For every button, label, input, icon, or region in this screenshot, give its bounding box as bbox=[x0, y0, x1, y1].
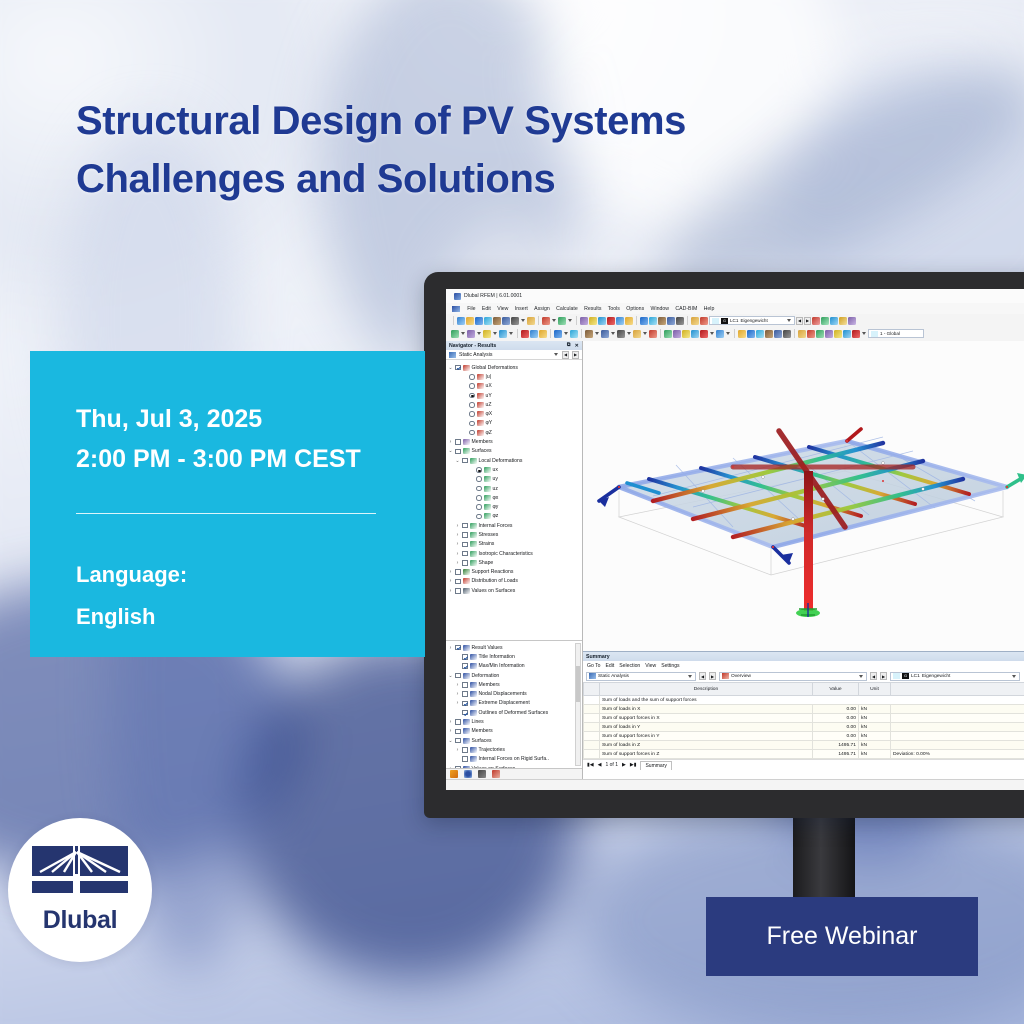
page-indicator: 1 of 1 bbox=[605, 762, 618, 768]
menu-item-insert[interactable]: Insert bbox=[512, 306, 531, 312]
radio-button[interactable] bbox=[469, 421, 475, 427]
page-title: Structural Design of PV Systems Challeng… bbox=[76, 92, 896, 208]
toolbar-icon[interactable] bbox=[812, 317, 820, 325]
tree-item-icon bbox=[470, 682, 477, 688]
toolbar-icon[interactable] bbox=[664, 330, 672, 338]
dropdown-caret-icon[interactable] bbox=[726, 332, 730, 335]
checkbox[interactable] bbox=[455, 729, 461, 735]
checkbox[interactable] bbox=[462, 532, 468, 538]
float-icon[interactable]: ⧉ bbox=[567, 342, 571, 349]
toolbar-icon[interactable] bbox=[848, 317, 856, 325]
summary-menu-view[interactable]: View bbox=[645, 663, 656, 669]
support-symbol bbox=[796, 603, 820, 617]
checkbox-checked[interactable] bbox=[455, 365, 461, 371]
cell-note bbox=[891, 732, 1024, 741]
tree-item[interactable]: φX bbox=[448, 409, 582, 418]
chevron-right-icon[interactable]: › bbox=[448, 645, 453, 651]
radio-button[interactable] bbox=[476, 476, 482, 482]
toolbar-icon[interactable] bbox=[633, 330, 641, 338]
summary-menu-settings[interactable]: Settings bbox=[661, 663, 679, 669]
chevron-right-icon[interactable]: › bbox=[448, 766, 453, 769]
loadcase-next-button[interactable]: ▶ bbox=[804, 317, 811, 325]
tree-item-icon bbox=[470, 532, 477, 538]
chevron-right-icon[interactable]: › bbox=[448, 569, 453, 575]
checkbox[interactable] bbox=[462, 542, 468, 548]
radio-button[interactable] bbox=[469, 430, 475, 436]
navigator-tab-results-icon[interactable] bbox=[450, 770, 458, 778]
dropdown-caret-icon[interactable] bbox=[477, 332, 481, 335]
chevron-down-icon[interactable] bbox=[1012, 675, 1016, 678]
dropdown-caret-icon[interactable] bbox=[568, 319, 572, 322]
toolbar-icon[interactable] bbox=[700, 330, 708, 338]
toolbar-icon[interactable] bbox=[530, 330, 538, 338]
toolbar-icon[interactable] bbox=[511, 317, 519, 325]
chevron-right-icon[interactable]: › bbox=[455, 560, 460, 566]
tree-item[interactable]: ⌄Global Deformations bbox=[448, 363, 582, 372]
first-page-button[interactable]: ▮◀ bbox=[587, 762, 594, 768]
dropdown-caret-icon[interactable] bbox=[493, 332, 497, 335]
tree-item-label: Values on Surfaces bbox=[472, 588, 516, 594]
view-prev-button[interactable]: ◀ bbox=[870, 672, 877, 680]
tree-item-icon bbox=[470, 654, 477, 660]
toolbar-icon[interactable] bbox=[830, 317, 838, 325]
toolbar-icon[interactable] bbox=[839, 317, 847, 325]
toolbar-icon[interactable] bbox=[451, 330, 459, 338]
tree-item-icon bbox=[484, 504, 491, 510]
checkbox[interactable] bbox=[462, 682, 468, 688]
chevron-down-icon[interactable] bbox=[554, 353, 558, 356]
toolbar-icon[interactable] bbox=[585, 330, 593, 338]
tree-item[interactable]: ›Result Values bbox=[448, 643, 582, 652]
toolbar-icon[interactable] bbox=[843, 330, 851, 338]
tree-item[interactable]: Internal Forces on Rigid Surfa.. bbox=[448, 755, 582, 764]
event-date: Thu, Jul 3, 2025 bbox=[76, 399, 425, 439]
tree-item-label: φX bbox=[486, 411, 493, 417]
menu-item-assign[interactable]: Assign bbox=[531, 306, 553, 312]
analysis-icon bbox=[589, 673, 596, 679]
chevron-right-icon[interactable]: › bbox=[455, 551, 460, 557]
toolbar-icon[interactable] bbox=[640, 317, 648, 325]
event-time: 2:00 PM - 3:00 PM CEST bbox=[76, 439, 425, 479]
toolbar-icon[interactable] bbox=[554, 330, 562, 338]
tree-item-label: Max/Min Information bbox=[479, 663, 525, 669]
checkbox-checked[interactable] bbox=[462, 701, 468, 707]
checkbox[interactable] bbox=[462, 551, 468, 557]
tree-item[interactable]: ›Values on Surfaces bbox=[448, 764, 582, 768]
tree-item-icon bbox=[463, 365, 470, 371]
analysis-prev-button[interactable]: ◀ bbox=[699, 672, 706, 680]
checkbox[interactable] bbox=[455, 579, 461, 585]
dropdown-caret-icon[interactable] bbox=[595, 332, 599, 335]
chevron-right-icon[interactable]: › bbox=[455, 691, 460, 697]
tree-item-label: Surfaces bbox=[472, 448, 492, 454]
chevron-down-icon[interactable] bbox=[859, 675, 863, 678]
tree-item-label: |u| bbox=[486, 374, 491, 380]
tree-item[interactable]: ›Members bbox=[448, 437, 582, 446]
toolbar-icon[interactable] bbox=[616, 317, 624, 325]
toolbar-icon[interactable] bbox=[691, 317, 699, 325]
radio-button[interactable] bbox=[469, 374, 475, 380]
dropdown-caret-icon[interactable] bbox=[521, 319, 525, 322]
prev-button[interactable]: ◀ bbox=[562, 351, 569, 359]
tree-item[interactable]: ›Nodal Displacements bbox=[448, 689, 582, 698]
checkbox-checked[interactable] bbox=[462, 654, 468, 660]
menu-item-edit[interactable]: Edit bbox=[479, 306, 494, 312]
dropdown-caret-icon[interactable] bbox=[710, 332, 714, 335]
table-group-row: Sum of loads and the sum of support forc… bbox=[584, 696, 1024, 705]
toolbar-icon[interactable] bbox=[539, 330, 547, 338]
chevron-down-icon[interactable]: ⌄ bbox=[448, 673, 453, 679]
toolbar-icon[interactable] bbox=[601, 330, 609, 338]
chevron-right-icon[interactable]: › bbox=[455, 747, 460, 753]
app-logo-icon bbox=[454, 293, 461, 300]
toolbar-icon[interactable] bbox=[457, 317, 465, 325]
toolbar-loadcase-combo[interactable]: GLC1Eigengewicht bbox=[709, 316, 795, 325]
radio-selected[interactable] bbox=[476, 467, 482, 473]
tree-item[interactable]: ›Extreme Displacement bbox=[448, 699, 582, 708]
tree-item[interactable]: ›Members bbox=[448, 680, 582, 689]
tree-item[interactable]: φx bbox=[448, 493, 582, 502]
language-label: Language: bbox=[76, 554, 425, 596]
dropdown-caret-icon[interactable] bbox=[509, 332, 513, 335]
checkbox[interactable] bbox=[455, 673, 461, 679]
table-row[interactable]: Sum of support forces in X0.00kN bbox=[584, 714, 1024, 723]
toolbar-icon[interactable] bbox=[475, 317, 483, 325]
tree-item[interactable]: ›Members bbox=[448, 727, 582, 736]
toolbar-icon[interactable] bbox=[682, 330, 690, 338]
summary-menu-edit[interactable]: Edit bbox=[606, 663, 615, 669]
toolbar-icon[interactable] bbox=[807, 330, 815, 338]
toolbar-icon[interactable] bbox=[691, 330, 699, 338]
tree-item-icon bbox=[463, 439, 470, 445]
tree-item[interactable]: uZ bbox=[448, 400, 582, 409]
tree-scrollbar[interactable] bbox=[575, 643, 581, 766]
tree-item[interactable]: uY bbox=[448, 391, 582, 400]
checkbox[interactable] bbox=[455, 569, 461, 575]
chevron-right-icon[interactable]: › bbox=[455, 682, 460, 688]
next-button[interactable]: ▶ bbox=[572, 351, 579, 359]
summary-table: Description Value Unit Sum of loads and … bbox=[583, 682, 1024, 759]
free-webinar-label: Free Webinar bbox=[767, 922, 918, 951]
tree-item[interactable]: ›Lines bbox=[448, 717, 582, 726]
radio-button[interactable] bbox=[476, 504, 482, 510]
checkbox[interactable] bbox=[455, 719, 461, 725]
cell-note bbox=[891, 741, 1024, 750]
col-description: Description bbox=[600, 683, 813, 696]
radio-button[interactable] bbox=[476, 495, 482, 501]
cell-description: Sum of loads in Y bbox=[600, 723, 813, 732]
tree-item[interactable]: ›Distribution of Loads bbox=[448, 577, 582, 586]
display-tree[interactable]: ›Result ValuesTitle InformationMax/Min I… bbox=[446, 640, 582, 768]
chevron-right-icon[interactable]: › bbox=[455, 532, 460, 538]
tree-item-label: φz bbox=[493, 513, 499, 519]
cell-value: 0.00 bbox=[813, 714, 859, 723]
cell-unit: kN bbox=[859, 705, 891, 714]
navigator-tabs[interactable] bbox=[446, 768, 582, 779]
checkbox[interactable] bbox=[462, 560, 468, 566]
loadcase-prev-button[interactable]: ◀ bbox=[796, 317, 803, 325]
toolbar-icon[interactable] bbox=[493, 317, 501, 325]
toolbar-icon[interactable] bbox=[852, 330, 860, 338]
tree-item-icon bbox=[463, 719, 470, 725]
toolbar-icon[interactable] bbox=[774, 330, 782, 338]
toolbar-secondary[interactable]: 1 - Global bbox=[446, 327, 1024, 340]
tree-item-icon bbox=[463, 569, 470, 575]
table-row[interactable]: Sum of support forces in Y0.00kN bbox=[584, 732, 1024, 741]
toolbar-icon[interactable] bbox=[821, 317, 829, 325]
tree-item-label: Trajectories bbox=[479, 747, 505, 753]
summary-view-combo[interactable]: Overview bbox=[719, 672, 867, 681]
toolbar-icon[interactable] bbox=[756, 330, 764, 338]
dlubal-logo: Dlubal bbox=[8, 818, 152, 962]
navigator-tab-views-icon[interactable] bbox=[478, 770, 486, 778]
toolbar-icon[interactable] bbox=[607, 317, 615, 325]
cell-value: 1495.71 bbox=[813, 741, 859, 750]
tree-item[interactable]: Title Information bbox=[448, 652, 582, 661]
chevron-down-icon[interactable]: ⌄ bbox=[455, 458, 460, 464]
tree-item-label: Members bbox=[472, 439, 493, 445]
chevron-right-icon[interactable]: › bbox=[448, 578, 453, 584]
next-page-button[interactable]: ▶ bbox=[622, 762, 626, 768]
checkbox[interactable] bbox=[462, 747, 468, 753]
chevron-down-icon[interactable]: ⌄ bbox=[448, 365, 453, 371]
close-icon[interactable]: ✕ bbox=[575, 343, 579, 349]
tree-item[interactable]: φy bbox=[448, 502, 582, 511]
chevron-right-icon[interactable]: › bbox=[455, 523, 460, 529]
radio-button[interactable] bbox=[469, 383, 475, 389]
tree-item[interactable]: ⌄Local Deformations bbox=[448, 456, 582, 465]
cell-description: Sum of support forces in Y bbox=[600, 732, 813, 741]
analysis-type-selector[interactable]: Static Analysis ◀ ▶ bbox=[446, 350, 582, 360]
free-webinar-button[interactable]: Free Webinar bbox=[706, 897, 978, 976]
chevron-right-icon[interactable]: › bbox=[448, 588, 453, 594]
navigator-tab-print-icon[interactable] bbox=[492, 770, 500, 778]
tree-item-label: Lines bbox=[472, 719, 484, 725]
tree-item-icon bbox=[463, 738, 470, 744]
dropdown-caret-icon[interactable] bbox=[611, 332, 615, 335]
tree-item[interactable]: ›Strains bbox=[448, 540, 582, 549]
view-next-button[interactable]: ▶ bbox=[880, 672, 887, 680]
menu-item-window[interactable]: Window bbox=[647, 306, 672, 312]
menu-item-cad-bim[interactable]: CAD-BIM bbox=[672, 306, 700, 312]
dropdown-caret-icon[interactable] bbox=[627, 332, 631, 335]
toolbar-icon[interactable] bbox=[716, 330, 724, 338]
col-value: Value bbox=[813, 683, 859, 696]
tree-item[interactable]: ⌄Surfaces bbox=[448, 447, 582, 456]
menu-app-icon bbox=[452, 306, 460, 312]
tree-item-label: Distribution of Loads bbox=[472, 578, 518, 584]
toolbar-icon[interactable] bbox=[466, 317, 474, 325]
checkbox[interactable] bbox=[462, 458, 468, 464]
checkbox[interactable] bbox=[462, 523, 468, 529]
chevron-right-icon[interactable]: › bbox=[448, 719, 453, 725]
tree-item[interactable]: |u| bbox=[448, 372, 582, 381]
tree-item-label: Shape bbox=[479, 560, 494, 566]
summary-tab[interactable]: Summary bbox=[640, 761, 671, 770]
tree-item[interactable]: uz bbox=[448, 484, 582, 493]
checkbox[interactable] bbox=[455, 766, 461, 768]
tree-item[interactable]: ›Support Reactions bbox=[448, 568, 582, 577]
radio-button[interactable] bbox=[469, 411, 475, 417]
tree-item-icon bbox=[484, 476, 491, 482]
checkbox-checked[interactable] bbox=[462, 663, 468, 669]
toolbar-icon[interactable] bbox=[700, 317, 708, 325]
toolbar-icon[interactable] bbox=[798, 330, 806, 338]
tree-item-label: Internal Forces bbox=[479, 523, 513, 529]
toolbar-icon[interactable] bbox=[834, 330, 842, 338]
tree-item-label: uX bbox=[486, 383, 492, 389]
checkbox[interactable] bbox=[455, 588, 461, 594]
table-row[interactable]: Sum of loads in X0.00kN bbox=[584, 705, 1024, 714]
app-status-bar: SNAP bbox=[446, 779, 1024, 790]
toolbar-icon[interactable] bbox=[649, 317, 657, 325]
table-row[interactable]: Sum of loads in Y0.00kN bbox=[584, 723, 1024, 732]
menu-item-tools[interactable]: Tools bbox=[605, 306, 623, 312]
toolbar-icon[interactable] bbox=[747, 330, 755, 338]
dropdown-caret-icon[interactable] bbox=[552, 319, 556, 322]
toolbar-icon[interactable] bbox=[598, 317, 606, 325]
dropdown-caret-icon[interactable] bbox=[643, 332, 647, 335]
chevron-down-icon[interactable]: ⌄ bbox=[448, 448, 453, 454]
toolbar-icon[interactable] bbox=[765, 330, 773, 338]
checkbox[interactable] bbox=[455, 449, 461, 455]
table-row[interactable]: Sum of support forces in Z1495.71kNDevia… bbox=[584, 750, 1024, 759]
tree-item[interactable]: ›Trajectories bbox=[448, 745, 582, 754]
tree-item-icon bbox=[470, 700, 477, 706]
event-info-card: Thu, Jul 3, 2025 2:00 PM - 3:00 PM CEST … bbox=[30, 351, 425, 657]
toolbar-icon[interactable] bbox=[527, 317, 535, 325]
chevron-right-icon[interactable]: › bbox=[455, 700, 460, 706]
chevron-down-icon[interactable] bbox=[688, 675, 692, 678]
tree-item[interactable]: uy bbox=[448, 475, 582, 484]
toolbar-icon[interactable] bbox=[570, 330, 578, 338]
logo-wordmark: Dlubal bbox=[43, 906, 118, 935]
radio-button[interactable] bbox=[476, 486, 482, 492]
toolbar-icon[interactable] bbox=[502, 317, 510, 325]
summary-menu-goto[interactable]: Go To bbox=[587, 663, 601, 669]
tree-item[interactable]: Max/Min Information bbox=[448, 662, 582, 671]
tree-item[interactable]: ⌄Surfaces bbox=[448, 736, 582, 745]
tree-item[interactable]: ›Values on Surfaces bbox=[448, 586, 582, 595]
tree-item[interactable]: ⌄Deformation bbox=[448, 671, 582, 680]
tree-item-label: Isotropic Characteristics bbox=[479, 551, 533, 557]
toolbar-icon[interactable] bbox=[738, 330, 746, 338]
menu-item-calculate[interactable]: Calculate bbox=[553, 306, 581, 312]
results-tree[interactable]: ⌄Global Deformations|u|uXuYuZφXφYφZ›Memb… bbox=[446, 360, 582, 640]
checkbox[interactable] bbox=[455, 738, 461, 744]
table-row[interactable]: Sum of loads in Z1495.71kN bbox=[584, 741, 1024, 750]
menu-item-help[interactable]: Help bbox=[700, 306, 717, 312]
toolbar-icon[interactable] bbox=[484, 317, 492, 325]
radio-button[interactable] bbox=[469, 402, 475, 408]
toolbar-icon[interactable] bbox=[617, 330, 625, 338]
navigator-tab-display-icon[interactable] bbox=[464, 770, 472, 778]
summary-view-label: Overview bbox=[731, 674, 856, 679]
tree-item[interactable]: Outlines of Deformed Surfaces bbox=[448, 708, 582, 717]
tree-item[interactable]: ›Isotropic Characteristics bbox=[448, 549, 582, 558]
checkbox[interactable] bbox=[462, 691, 468, 697]
toolbar-primary[interactable]: GLC1Eigengewicht◀▶ bbox=[446, 314, 1024, 327]
navigator-panel: Navigator - Results ⧉ ✕ Static Analysis … bbox=[446, 341, 583, 779]
chevron-right-icon[interactable]: › bbox=[448, 439, 453, 445]
dropdown-caret-icon[interactable] bbox=[862, 332, 866, 335]
tree-item-label: Members bbox=[472, 728, 493, 734]
toolbar-icon[interactable] bbox=[816, 330, 824, 338]
cell-unit: kN bbox=[859, 741, 891, 750]
summary-menu-selection[interactable]: Selection bbox=[619, 663, 640, 669]
radio-selected[interactable] bbox=[469, 393, 475, 399]
menu-item-file[interactable]: File bbox=[464, 306, 479, 312]
toolbar-icon[interactable] bbox=[558, 317, 566, 325]
tree-item[interactable]: φY bbox=[448, 419, 582, 428]
toolbar-icon[interactable] bbox=[676, 317, 684, 325]
checkbox[interactable] bbox=[462, 756, 468, 762]
toolbar-icon[interactable] bbox=[483, 330, 491, 338]
menu-item-view[interactable]: View bbox=[494, 306, 512, 312]
tree-item[interactable]: ›Shape bbox=[448, 558, 582, 567]
toolbar-icon[interactable] bbox=[467, 330, 475, 338]
menu-item-options[interactable]: Options bbox=[623, 306, 647, 312]
col-note bbox=[891, 683, 1024, 696]
toolbar-icon[interactable] bbox=[521, 330, 529, 338]
tree-item-icon bbox=[477, 402, 484, 408]
tree-item-icon bbox=[463, 578, 470, 584]
tree-item[interactable]: ›Internal Forces bbox=[448, 521, 582, 530]
toolbar-icon[interactable] bbox=[673, 330, 681, 338]
checkbox-checked[interactable] bbox=[462, 710, 468, 716]
chevron-right-icon[interactable]: › bbox=[455, 541, 460, 547]
toolbar-icon[interactable] bbox=[825, 330, 833, 338]
table-header-row: Description Value Unit bbox=[584, 683, 1024, 696]
chevron-down-icon[interactable]: ⌄ bbox=[448, 738, 453, 744]
tree-item[interactable]: φz bbox=[448, 512, 582, 521]
radio-button[interactable] bbox=[476, 514, 482, 520]
tree-item[interactable]: uX bbox=[448, 382, 582, 391]
toolbar-icon[interactable] bbox=[589, 317, 597, 325]
toolbar-icon[interactable] bbox=[625, 317, 633, 325]
chevron-right-icon[interactable]: › bbox=[448, 728, 453, 734]
page-title-line2: Challenges and Solutions bbox=[76, 150, 896, 208]
toolbar-icon[interactable] bbox=[499, 330, 507, 338]
last-page-button[interactable]: ▶▮ bbox=[630, 762, 637, 768]
loadcase-id: LC1 bbox=[911, 674, 920, 679]
dropdown-caret-icon[interactable] bbox=[461, 332, 465, 335]
tree-item[interactable]: φZ bbox=[448, 428, 582, 437]
toolbar-icon[interactable] bbox=[542, 317, 550, 325]
checkbox-checked[interactable] bbox=[455, 645, 461, 651]
toolbar-icon[interactable] bbox=[658, 317, 666, 325]
toolbar-icon[interactable] bbox=[649, 330, 657, 338]
summary-loadcase-combo[interactable]: G LC1 Eigengewicht bbox=[890, 672, 1020, 681]
prev-page-button[interactable]: ◀ bbox=[598, 762, 602, 768]
model-viewport[interactable] bbox=[583, 341, 1024, 651]
tree-item[interactable]: ux bbox=[448, 465, 582, 474]
toolbar-icon[interactable] bbox=[580, 317, 588, 325]
checkbox[interactable] bbox=[455, 439, 461, 445]
toolbar-icon[interactable] bbox=[667, 317, 675, 325]
tree-item[interactable]: ›Stresses bbox=[448, 530, 582, 539]
summary-analysis-combo[interactable]: Static Analysis bbox=[586, 672, 696, 681]
summary-analysis-label: Static Analysis bbox=[598, 674, 685, 679]
toolbar-icon[interactable] bbox=[783, 330, 791, 338]
menu-item-results[interactable]: Results bbox=[581, 306, 605, 312]
analysis-type-label: Static Analysis bbox=[459, 352, 550, 358]
dropdown-caret-icon[interactable] bbox=[564, 332, 568, 335]
coordinate-system-combo[interactable]: 1 - Global bbox=[868, 329, 924, 338]
analysis-next-button[interactable]: ▶ bbox=[709, 672, 716, 680]
tree-item-icon bbox=[463, 645, 470, 651]
tree-item-label: Title Information bbox=[479, 654, 515, 660]
